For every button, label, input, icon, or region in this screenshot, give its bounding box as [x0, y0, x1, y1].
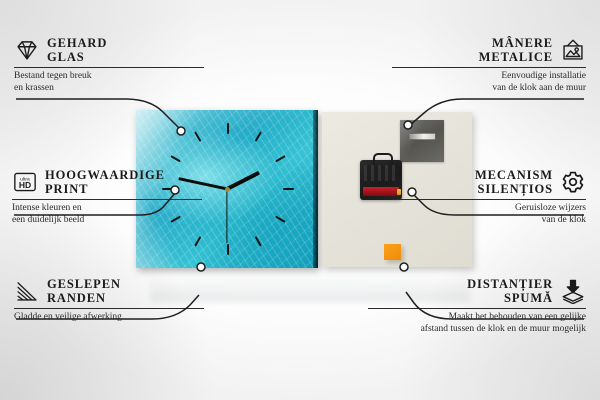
connector-foam-spacer	[406, 292, 584, 319]
connector-dot-tempered-glass	[177, 127, 185, 135]
connector-dot-foam-spacer	[400, 263, 408, 271]
connector-hd-print	[14, 192, 176, 215]
connector-dot-silent-mechanism	[408, 188, 416, 196]
infographic-canvas: GEHARD GLAS Bestand tegen breuk en krass…	[0, 0, 600, 400]
connector-ground-edges	[16, 295, 199, 319]
connector-silent-mechanism	[413, 194, 584, 215]
connector-tempered-glass	[16, 99, 180, 129]
connector-metal-handles	[409, 99, 584, 126]
connector-lines	[0, 0, 600, 400]
connector-dot-hd-print	[171, 186, 179, 194]
connector-dot-metal-handles	[404, 121, 412, 129]
connector-dot-ground-edges	[197, 263, 205, 271]
